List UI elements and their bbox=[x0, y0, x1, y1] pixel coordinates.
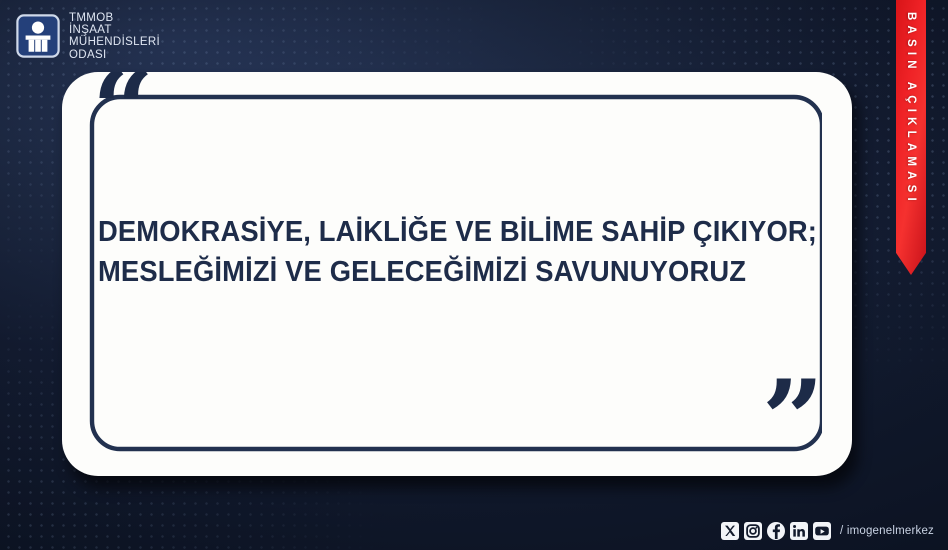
brand-line-1: TMMOB bbox=[69, 12, 160, 24]
facebook-icon[interactable] bbox=[767, 522, 785, 540]
instagram-icon[interactable] bbox=[744, 522, 762, 540]
opening-quote-mark: “ bbox=[92, 72, 154, 164]
press-release-graphic: TMMOB İNŞAAT MÜHENDİSLERİ ODASI BASIN AÇ… bbox=[0, 0, 948, 550]
x-twitter-icon[interactable] bbox=[721, 522, 739, 540]
brand-lockup: TMMOB İNŞAAT MÜHENDİSLERİ ODASI bbox=[16, 12, 160, 61]
quote-card: “ DEMOKRASİYE, LAİKLİĞE VE BİLİME SAHİP … bbox=[62, 72, 852, 476]
brand-line-4: ODASI bbox=[69, 49, 160, 61]
closing-quote-mark: ” bbox=[762, 366, 824, 474]
social-links: / imogenelmerkez bbox=[721, 522, 934, 540]
ribbon-label: BASIN AÇIKLAMASI bbox=[905, 12, 917, 206]
linkedin-icon[interactable] bbox=[790, 522, 808, 540]
headline-line-1: DEMOKRASİYE, LAİKLİĞE VE BİLİME SAHİP ÇI… bbox=[98, 212, 776, 252]
social-handle: / imogenelmerkez bbox=[840, 525, 934, 537]
tmmob-figure-logo-icon bbox=[16, 14, 60, 58]
brand-line-2: İNŞAAT bbox=[69, 24, 160, 36]
brand-name: TMMOB İNŞAAT MÜHENDİSLERİ ODASI bbox=[69, 12, 160, 61]
youtube-icon[interactable] bbox=[813, 522, 831, 540]
headline-line-2: MESLEĞİMİZİ VE GELECEĞİMİZİ SAVUNUYORUZ bbox=[98, 252, 776, 292]
press-release-ribbon: BASIN AÇIKLAMASI bbox=[896, 0, 926, 275]
brand-line-3: MÜHENDİSLERİ bbox=[69, 36, 160, 48]
headline-text: DEMOKRASİYE, LAİKLİĞE VE BİLİME SAHİP ÇI… bbox=[98, 212, 776, 293]
